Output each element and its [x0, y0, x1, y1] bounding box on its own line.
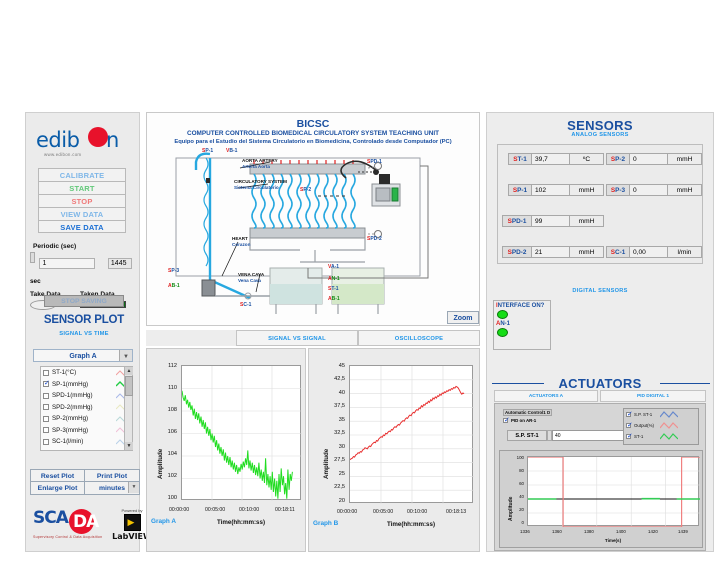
- sensor-unit: mmH: [668, 184, 702, 196]
- digital-sensors-box: INTERFACE ON? AN-1: [493, 300, 551, 350]
- pid-chart-xlabel: Time(s): [527, 538, 699, 543]
- sensor-value: 99: [532, 215, 570, 227]
- list-item[interactable]: SPD-2(mmHg): [41, 402, 132, 414]
- pid-on-label: PID on AR-1: [511, 418, 536, 423]
- stop-button[interactable]: STOP: [38, 194, 126, 207]
- graph-b-ytick: 32,5: [325, 430, 345, 436]
- sensor-unit: mmH: [668, 153, 702, 165]
- graph-a-trace: [182, 366, 302, 501]
- plot-button-group: Reset Plot Print Plot Enlarge Plot minut…: [30, 469, 140, 495]
- sensor-tag[interactable]: SP-1: [508, 184, 532, 196]
- label-heart: HEARTCorazon: [232, 236, 250, 247]
- graph-b-ytick: 40: [325, 390, 345, 396]
- sensor-value: 21: [532, 246, 570, 258]
- an-1-label: AN-1: [496, 321, 550, 327]
- list-item[interactable]: SC-1(l/min): [41, 436, 132, 448]
- calibrate-button[interactable]: CALIBRATE: [38, 168, 126, 181]
- tab-signal-vs-time[interactable]: SIGNAL VS TIME: [30, 331, 138, 337]
- circulatory-system-diagram[interactable]: AORTA ARTERYArteria Aorta CIRCULATORY SY…: [150, 150, 476, 322]
- sensor-value: 0,00: [630, 246, 668, 258]
- sensor-value: 0: [630, 153, 668, 165]
- sensor-sp-3: SP-3 0 mmH: [606, 184, 702, 196]
- graph-a-xtick: 00:18:11: [275, 507, 295, 513]
- legend-label: SP-3(mmHg): [52, 427, 116, 434]
- legend-label: Output(%): [634, 423, 660, 428]
- pid-ytick: 60: [510, 481, 524, 486]
- legend-checkbox[interactable]: [43, 416, 49, 422]
- start-button[interactable]: START: [38, 181, 126, 194]
- graph-b-panel: Amplitude 45 42,5 40 37,5 35 32,5 30 27,…: [308, 348, 480, 552]
- actuators-rule-left: [492, 383, 544, 384]
- graph-a-xtick: 00:00:00: [169, 507, 189, 513]
- sensor-unit: l/min: [668, 246, 702, 258]
- graph-b-ytick: 35: [325, 417, 345, 423]
- graph-b-ytick: 42,5: [325, 376, 345, 382]
- legend-label: ST-1(°C): [52, 369, 116, 376]
- scada-text: SCA: [33, 508, 68, 528]
- list-item[interactable]: Output(%): [624, 420, 698, 431]
- an-1-led: [497, 328, 508, 337]
- interface-on-label: INTERFACE ON?: [496, 303, 550, 309]
- graph-a-ytick: 104: [159, 451, 177, 457]
- setpoint-tag: S.P. ST-1: [507, 430, 547, 441]
- graph-b-ytick: 30: [325, 444, 345, 450]
- graph-b-name: Graph B: [313, 520, 338, 527]
- legend-checkbox[interactable]: [626, 412, 631, 417]
- list-item[interactable]: SPD-1(mmHg): [41, 390, 132, 402]
- sensor-tag[interactable]: SC-1: [606, 246, 630, 258]
- unit-subtitle-es: Equipo para el Estudio del Sistema Circu…: [148, 139, 478, 145]
- unit-title: BICSC: [146, 118, 480, 130]
- scroll-up-icon[interactable]: ▲: [125, 367, 133, 375]
- sensor-unit: ºC: [570, 153, 604, 165]
- chevron-down-icon[interactable]: ▼: [119, 350, 132, 361]
- legend-checkbox[interactable]: [43, 393, 49, 399]
- tag-vb-1[interactable]: VB-1: [226, 148, 237, 154]
- time-unit-select[interactable]: minutes ▼: [85, 482, 140, 495]
- legend-checkbox[interactable]: [43, 439, 49, 445]
- sensor-plot-title: SENSOR PLOT: [30, 314, 138, 326]
- graph-b-plot-area[interactable]: [349, 365, 473, 503]
- sensor-spd-2: SPD-2 21 mmH: [502, 246, 604, 258]
- list-item[interactable]: S.P. ST-1: [624, 409, 698, 420]
- graph-b-xtick: 00:18:13: [446, 509, 466, 515]
- legend-sparkline: [660, 432, 678, 441]
- plot-mode-tabstrip: SIGNAL VS SIGNAL OSCILLOSCOPE: [146, 330, 480, 346]
- view-data-button[interactable]: VIEW DATA: [38, 207, 126, 220]
- sensor-tag[interactable]: SP-2: [606, 153, 630, 165]
- tab-spacer: [146, 330, 236, 346]
- scada-text2: DA: [73, 512, 98, 532]
- graph-b-ytick: 37,5: [325, 403, 345, 409]
- tag-st-1[interactable]: ST-1: [328, 286, 339, 292]
- graph-a-panel: Amplitude 112 110 108 106 104 102 100 00…: [146, 348, 306, 552]
- list-item[interactable]: SP-2(mmHg): [41, 413, 132, 425]
- graph-a-xtick: 00:10:00: [239, 507, 259, 513]
- tab-signal-vs-signal[interactable]: SIGNAL VS SIGNAL: [236, 330, 358, 346]
- pid-chart-panel: Amplitude 100 80 60 40 20 0 1336 1360 13…: [499, 450, 703, 548]
- edibon-url: www.edibon.com: [44, 152, 81, 157]
- graph-select-value: Graph A: [69, 353, 96, 360]
- legend-sparkline: [660, 421, 678, 430]
- pid-legend[interactable]: S.P. ST-1 Output(%) ST-1: [623, 408, 699, 445]
- edibon-logo-text2: n: [106, 128, 119, 152]
- list-item[interactable]: ST-1(°C): [41, 367, 132, 379]
- reset-plot-button[interactable]: Reset Plot: [30, 469, 85, 482]
- legend-label: SP-1(mmHg): [52, 381, 116, 388]
- graph-a-ytick: 110: [159, 385, 177, 391]
- pid-on-row[interactable]: PID on AR-1: [503, 418, 536, 423]
- graph-b-ytick: 27,5: [325, 457, 345, 463]
- enlarge-plot-button[interactable]: Enlarge Plot: [30, 482, 85, 495]
- tag-sp-3[interactable]: SP-3: [168, 268, 179, 274]
- tag-sp-2[interactable]: SP-2: [300, 187, 311, 193]
- sensor-value: 102: [532, 184, 570, 196]
- graph-a-ytick: 102: [159, 473, 177, 479]
- graph-b-ytick: 25: [325, 471, 345, 477]
- tag-sc-1[interactable]: SC-1: [240, 302, 251, 308]
- edibon-logo: edib n www.edibon.com: [32, 122, 132, 168]
- scroll-down-icon[interactable]: ▼: [125, 442, 133, 450]
- chevron-down-icon[interactable]: ▼: [128, 482, 139, 493]
- list-item[interactable]: SP-1(mmHg): [41, 379, 132, 391]
- pid-ytick: 80: [510, 468, 524, 473]
- label-vena-cava: VENA CAVAVena Cava: [238, 272, 264, 283]
- tab-pid-digital-1[interactable]: PID DIGITAL 1: [600, 390, 706, 402]
- list-item[interactable]: ST-1: [624, 431, 698, 442]
- labview-icon: [124, 514, 141, 531]
- tab-oscilloscope[interactable]: OSCILLOSCOPE: [358, 330, 480, 346]
- legend-label: SC-1(l/min): [52, 438, 116, 445]
- legend-checkbox[interactable]: [43, 404, 49, 410]
- edibon-logo-text: edib: [36, 128, 79, 152]
- periodic-stepper[interactable]: [30, 252, 35, 263]
- tag-spd-1[interactable]: SPD-1: [367, 159, 382, 165]
- pid-xtick: 1380: [584, 529, 594, 534]
- sensor-sp-1: SP-1 102 mmH: [508, 184, 604, 196]
- label-circulatory-system: CIRCULATORY SYSTEMSistema Circulatorio: [234, 179, 287, 190]
- print-plot-button[interactable]: Print Plot: [85, 469, 140, 482]
- sensor-unit: mmH: [570, 246, 604, 258]
- legend-checkbox[interactable]: [43, 370, 49, 376]
- sensor-tag[interactable]: SPD-1: [502, 215, 532, 227]
- graph-a-xtick: 00:05:00: [205, 507, 225, 513]
- legend-checkbox[interactable]: [43, 427, 49, 433]
- save-data-button[interactable]: SAVE DATA: [38, 220, 126, 233]
- sensor-sp-2: SP-2 0 mmH: [606, 153, 702, 165]
- graph-a-ytick: 112: [159, 363, 177, 369]
- graph-a-ytick: 100: [159, 495, 177, 501]
- graph-a-ytick: 108: [159, 407, 177, 413]
- tag-sp-1[interactable]: SP-1: [202, 148, 213, 154]
- pid-ytick: 20: [510, 507, 524, 512]
- tag-ab-1-left[interactable]: AB-1: [168, 283, 180, 289]
- elapsed-unit: sec: [30, 278, 41, 285]
- scroll-thumb[interactable]: [125, 376, 133, 396]
- legend-label: SPD-1(mmHg): [52, 392, 116, 399]
- elapsed-value: 1445: [108, 258, 132, 269]
- legend-label: ST-1: [634, 434, 660, 439]
- graph-b-ytick: 20: [325, 498, 345, 504]
- label-aorta-artery: AORTA ARTERYArteria Aorta: [242, 158, 278, 169]
- sensor-value: 39,7: [532, 153, 570, 165]
- graph-b-trace: [350, 366, 474, 504]
- pid-xtick: 1360: [552, 529, 562, 534]
- actuators-panel: Automatic Control1 D PID on AR-1 S.P. ST…: [494, 403, 706, 551]
- graph-a-name: Graph A: [151, 518, 176, 525]
- list-item[interactable]: SP-3(mmHg): [41, 425, 132, 437]
- pid-xtick: 1439: [678, 529, 688, 534]
- pid-xtick: 1400: [616, 529, 626, 534]
- graph-b-ytick: 22,5: [325, 484, 345, 490]
- legend-checkbox[interactable]: [43, 381, 49, 387]
- analog-sensors-subtitle: ANALOG SENSORS: [486, 132, 714, 138]
- digital-sensors-subtitle: DIGITAL SENSORS: [486, 288, 714, 294]
- periodic-input[interactable]: 1: [39, 258, 95, 269]
- pid-xtick: 1420: [648, 529, 658, 534]
- legend-checkbox[interactable]: [626, 423, 631, 428]
- command-button-stack: CALIBRATE START STOP VIEW DATA SAVE DATA: [38, 168, 126, 233]
- sensor-unit: mmH: [570, 215, 604, 227]
- sensor-unit: mmH: [570, 184, 604, 196]
- graph-b-xtick: 00:10:00: [407, 509, 427, 515]
- graph-a-plot-area[interactable]: [181, 365, 301, 500]
- edibon-logo-dot: [88, 127, 108, 147]
- graph-b-xtick: 00:05:00: [373, 509, 393, 515]
- zoom-button[interactable]: Zoom: [447, 311, 479, 324]
- graph-b-xlabel: Time(hh:mm:ss): [349, 521, 473, 528]
- graph-a-xlabel: Time(hh:mm:ss): [181, 519, 301, 526]
- scada-logo: SCA DA Supervisory Control & Data Acquis…: [33, 508, 103, 539]
- pid-plot-area[interactable]: [527, 456, 699, 526]
- pid-ytick: 40: [510, 494, 524, 499]
- legend-scrollbar[interactable]: ▲ ▼: [124, 367, 132, 450]
- stop-saving-button[interactable]: STOP SAVING: [44, 295, 124, 307]
- scada-subtitle: Supervisory Control & Data Acquisition: [33, 535, 103, 539]
- pid-chart-trace: [528, 457, 700, 527]
- sensors-title: SENSORS: [486, 118, 714, 133]
- graph-b-ytick: 45: [325, 363, 345, 369]
- tag-spd-2[interactable]: SPD-2: [367, 236, 382, 242]
- legend-sparkline: [660, 410, 678, 419]
- tag-va-1[interactable]: VA-1: [328, 264, 339, 270]
- actuators-rule-right: [660, 383, 710, 384]
- sensor-tag[interactable]: ST-1: [508, 153, 532, 165]
- diagram-svg: [150, 150, 476, 322]
- time-unit-value: minutes: [99, 485, 125, 492]
- interface-on-led: [497, 310, 508, 319]
- sensor-value: 0: [630, 184, 668, 196]
- tab-actuators-a[interactable]: ACTUATORS A: [494, 390, 598, 402]
- tag-an-1[interactable]: AN-1: [328, 276, 340, 282]
- pid-xtick: 1336: [520, 529, 530, 534]
- sensor-sc-1: SC-1 0,00 l/min: [606, 246, 702, 258]
- sensor-tag[interactable]: SPD-2: [502, 246, 532, 258]
- legend-label: S.P. ST-1: [634, 412, 660, 417]
- tag-ab-1-right[interactable]: AB-1: [328, 296, 340, 302]
- sensor-spd-1: SPD-1 99 mmH: [502, 215, 604, 227]
- legend-checkbox[interactable]: [626, 434, 631, 439]
- legend-label: SPD-2(mmHg): [52, 404, 116, 411]
- pid-ytick: 0: [510, 520, 524, 525]
- pid-on-checkbox[interactable]: [503, 418, 508, 423]
- pid-ytick: 100: [510, 455, 524, 460]
- periodic-label: Periodic (sec): [33, 243, 138, 250]
- unit-subtitle-en: COMPUTER CONTROLLED BIOMEDICAL CIRCULATO…: [148, 130, 478, 137]
- graph-select-dropdown[interactable]: Graph A ▼: [33, 349, 133, 362]
- legend-label: SP-2(mmHg): [52, 415, 116, 422]
- sensor-legend-list[interactable]: ST-1(°C) SP-1(mmHg) SPD-1(mmHg) SPD-2(mm…: [40, 366, 133, 451]
- automatic-control-label: Automatic Control1 D: [503, 409, 552, 416]
- graph-a-ytick: 106: [159, 429, 177, 435]
- analog-sensors-box: ST-1 39,7 ºC SP-2 0 mmH SP-1 102 mmH SP-…: [497, 144, 703, 264]
- graph-b-xtick: 00:00:00: [337, 509, 357, 515]
- sensor-st-1: ST-1 39,7 ºC: [508, 153, 604, 165]
- sensor-tag[interactable]: SP-3: [606, 184, 630, 196]
